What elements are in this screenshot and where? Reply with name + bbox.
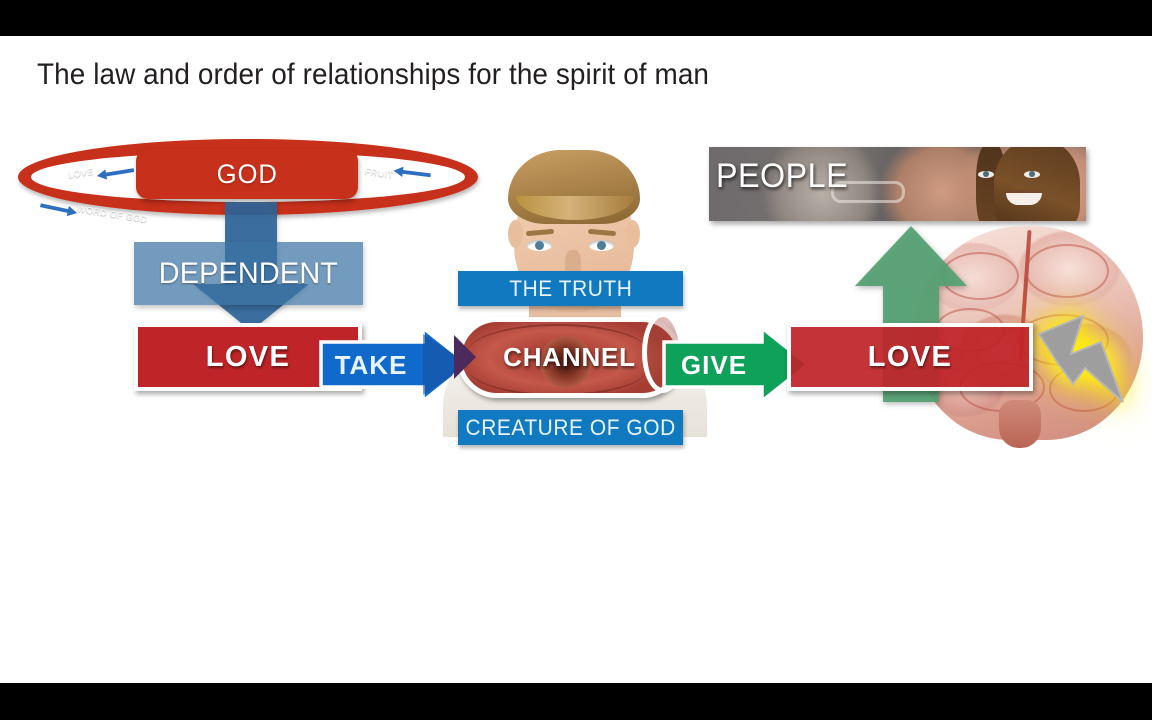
banner-the-truth-label: THE TRUTH bbox=[509, 276, 632, 302]
slide-stage: The law and order of relationships for t… bbox=[0, 0, 1152, 720]
banner-the-truth: THE TRUTH bbox=[458, 271, 683, 306]
love-box-left-label: LOVE bbox=[206, 341, 291, 374]
channel-label: CHANNEL bbox=[457, 317, 682, 398]
god-box-label: GOD bbox=[216, 159, 277, 190]
svg-text:GIVE: GIVE bbox=[681, 350, 747, 380]
banner-creature-of-god: CREATURE OF GOD bbox=[458, 410, 683, 445]
banner-creature-of-god-label: CREATURE OF GOD bbox=[465, 415, 675, 441]
svg-text:TAKE: TAKE bbox=[335, 350, 408, 380]
arrow-right-icon-word-of-god bbox=[36, 198, 79, 225]
people-label: PEOPLE bbox=[716, 157, 848, 196]
lightning-bolt-icon bbox=[1027, 310, 1139, 416]
channel-cylinder[interactable]: CHANNEL bbox=[457, 317, 682, 398]
dependent-band: DEPENDENT bbox=[134, 242, 363, 305]
love-box-right-label: LOVE bbox=[868, 341, 953, 374]
people-banner[interactable]: PEOPLE bbox=[709, 147, 1086, 221]
letterbox-bottom bbox=[0, 683, 1152, 720]
letterbox-top bbox=[0, 0, 1152, 36]
god-box[interactable]: GOD bbox=[136, 149, 358, 199]
slide-canvas: The law and order of relationships for t… bbox=[0, 36, 1152, 683]
dependent-label: DEPENDENT bbox=[159, 257, 338, 291]
love-box-right[interactable]: LOVE bbox=[787, 323, 1033, 391]
page-title: The law and order of relationships for t… bbox=[37, 58, 709, 92]
